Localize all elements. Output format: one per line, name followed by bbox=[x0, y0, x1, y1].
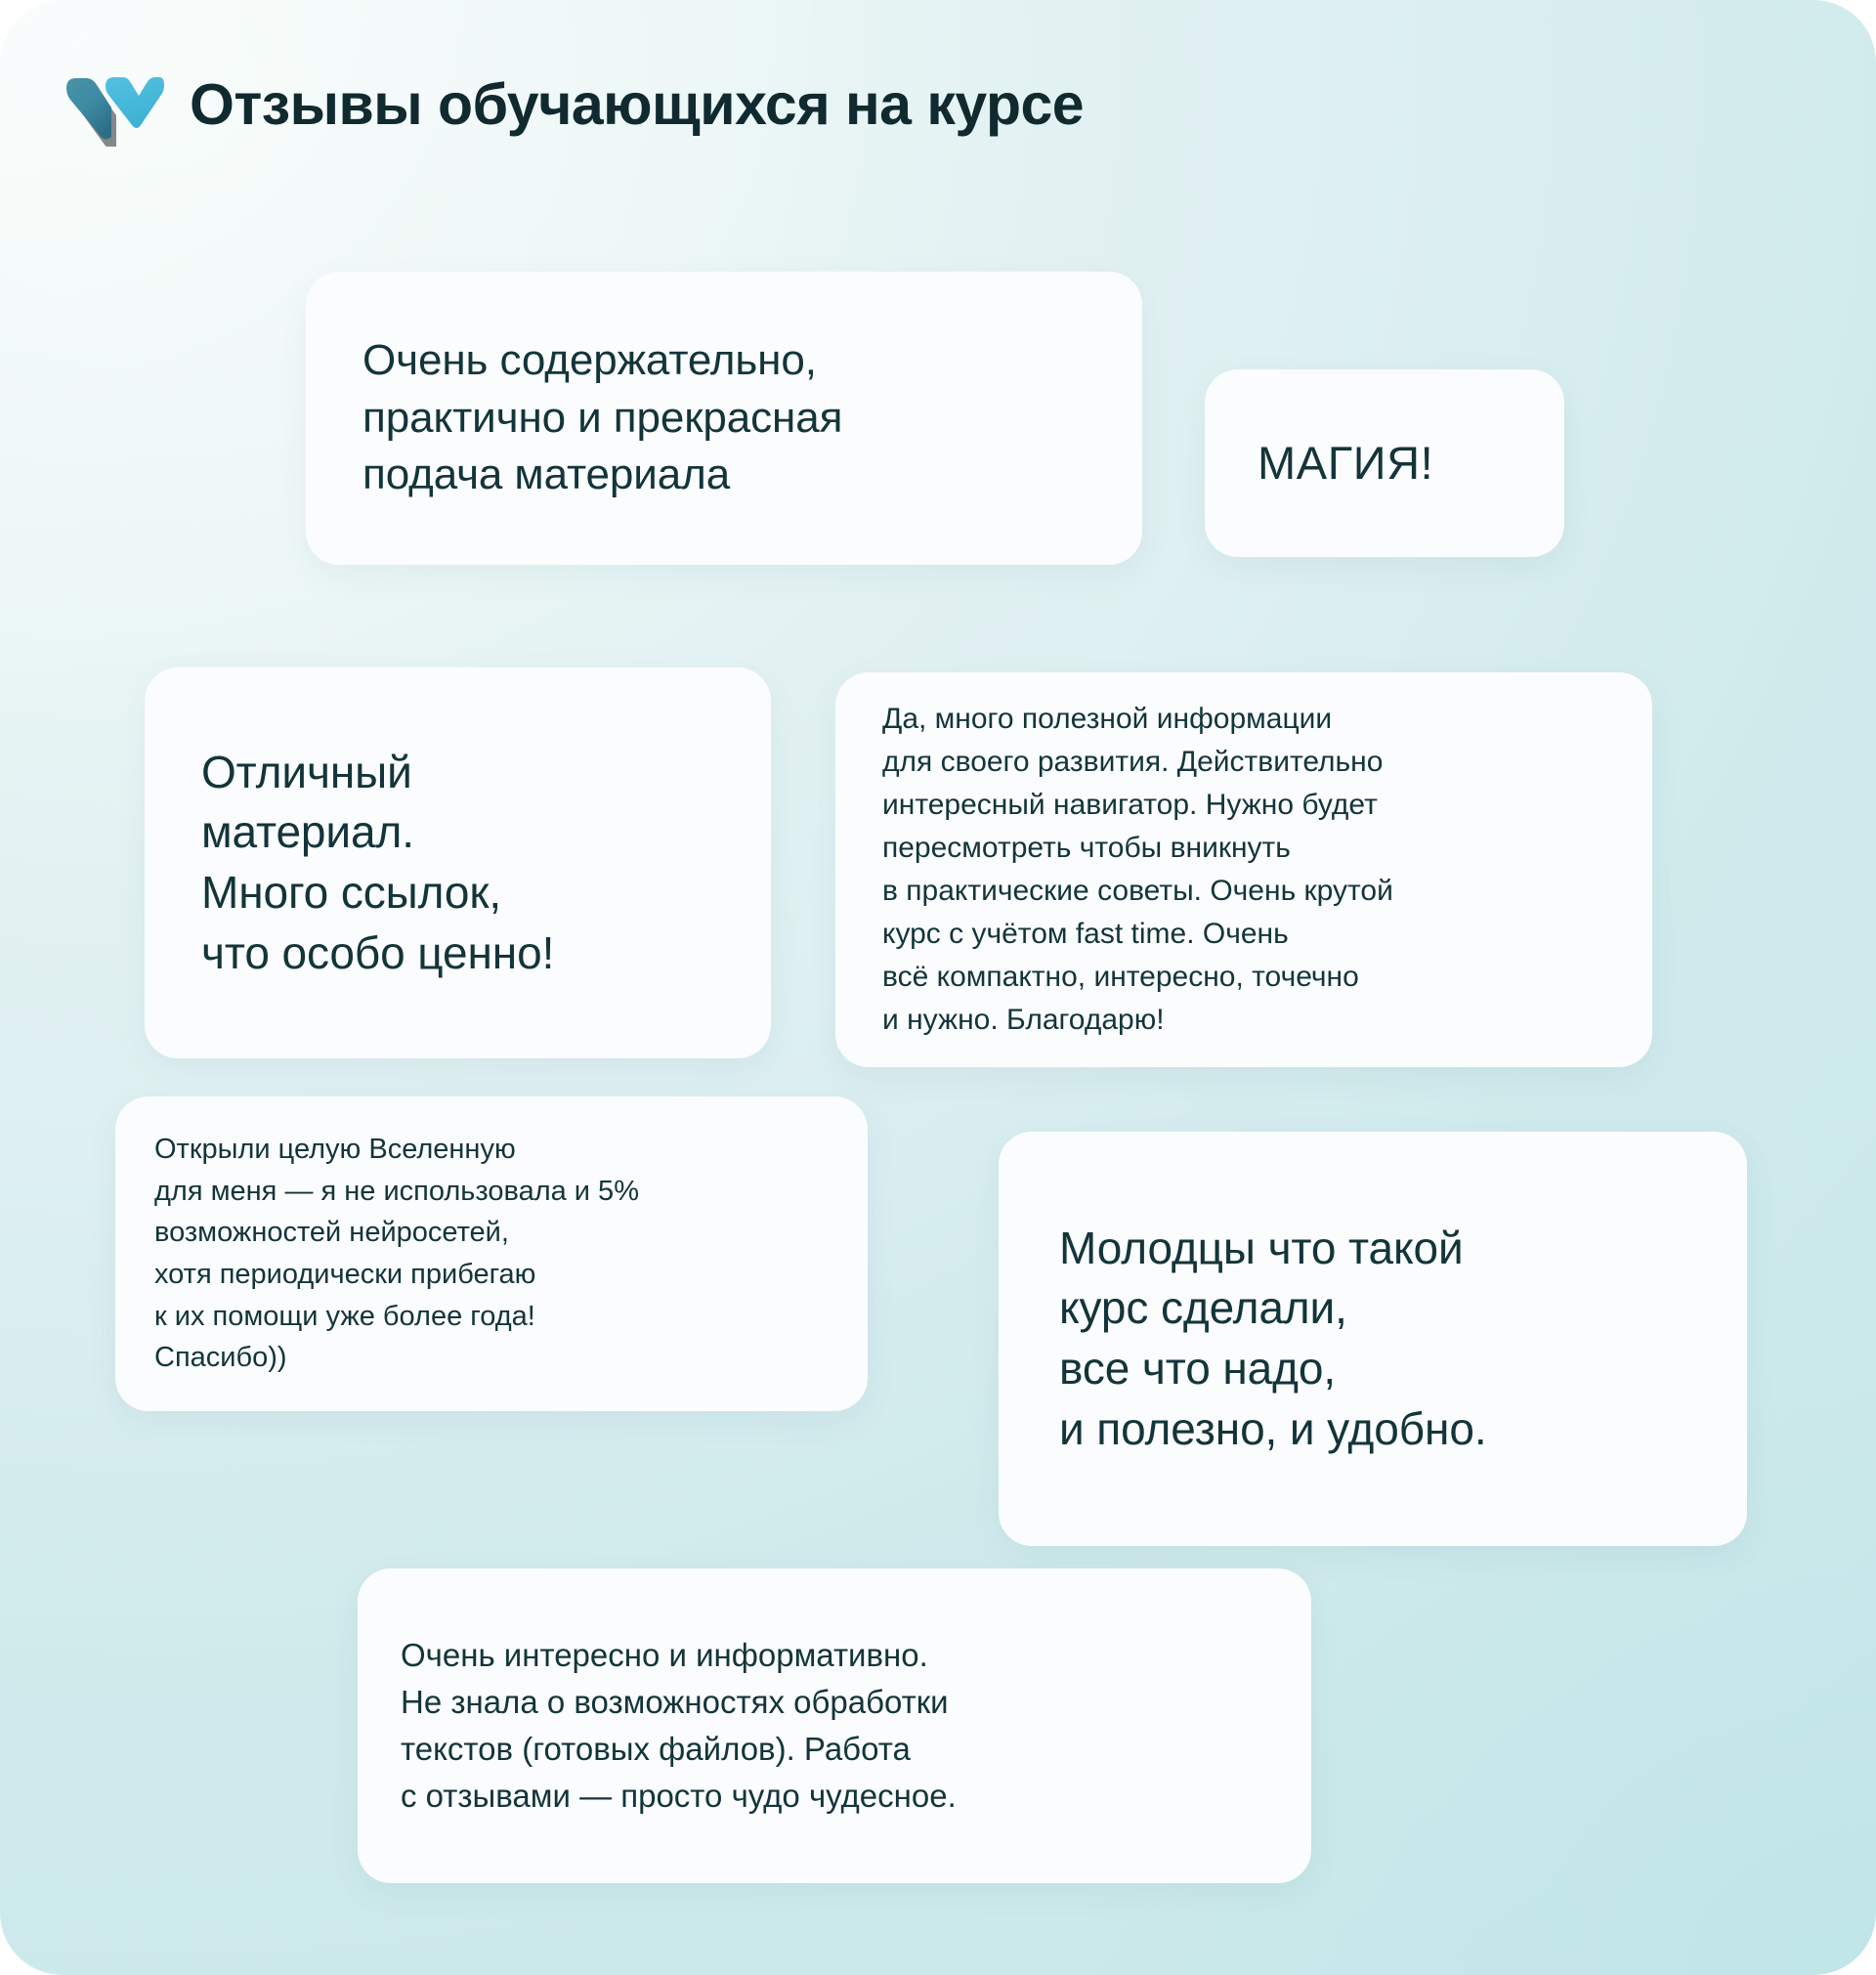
review-card-7: Очень интересно и информативно. Не знала… bbox=[358, 1568, 1311, 1883]
review-text: МАГИЯ! bbox=[1258, 436, 1433, 491]
review-card-5: Открыли целую Вселенную для меня — я не … bbox=[115, 1096, 868, 1411]
review-card-3: Отличный материал. Много ссылок, что осо… bbox=[145, 667, 771, 1058]
review-card-4: Да, много полезной информации для своего… bbox=[835, 672, 1652, 1067]
reviews-poster: Отзывы обучающихся на курсе Очень содерж… bbox=[0, 0, 1876, 1975]
review-text: Да, много полезной информации для своего… bbox=[882, 698, 1393, 1042]
review-text: Очень содержательно, практично и прекрас… bbox=[362, 332, 842, 504]
review-card-1: Очень содержательно, практично и прекрас… bbox=[306, 272, 1142, 565]
page-title: Отзывы обучающихся на курсе bbox=[190, 75, 1084, 136]
poster-header: Отзывы обучающихся на курсе bbox=[63, 64, 1084, 147]
review-text: Открыли целую Вселенную для меня — я не … bbox=[154, 1129, 639, 1379]
review-text: Молодцы что такой курс сделали, все что … bbox=[1059, 1219, 1487, 1460]
double-chevron-logo-icon bbox=[63, 64, 164, 147]
review-text: Отличный материал. Много ссылок, что осо… bbox=[201, 743, 554, 984]
review-card-6: Молодцы что такой курс сделали, все что … bbox=[999, 1132, 1747, 1546]
review-text: Очень интересно и информативно. Не знала… bbox=[401, 1632, 957, 1821]
review-card-2: МАГИЯ! bbox=[1205, 369, 1564, 557]
